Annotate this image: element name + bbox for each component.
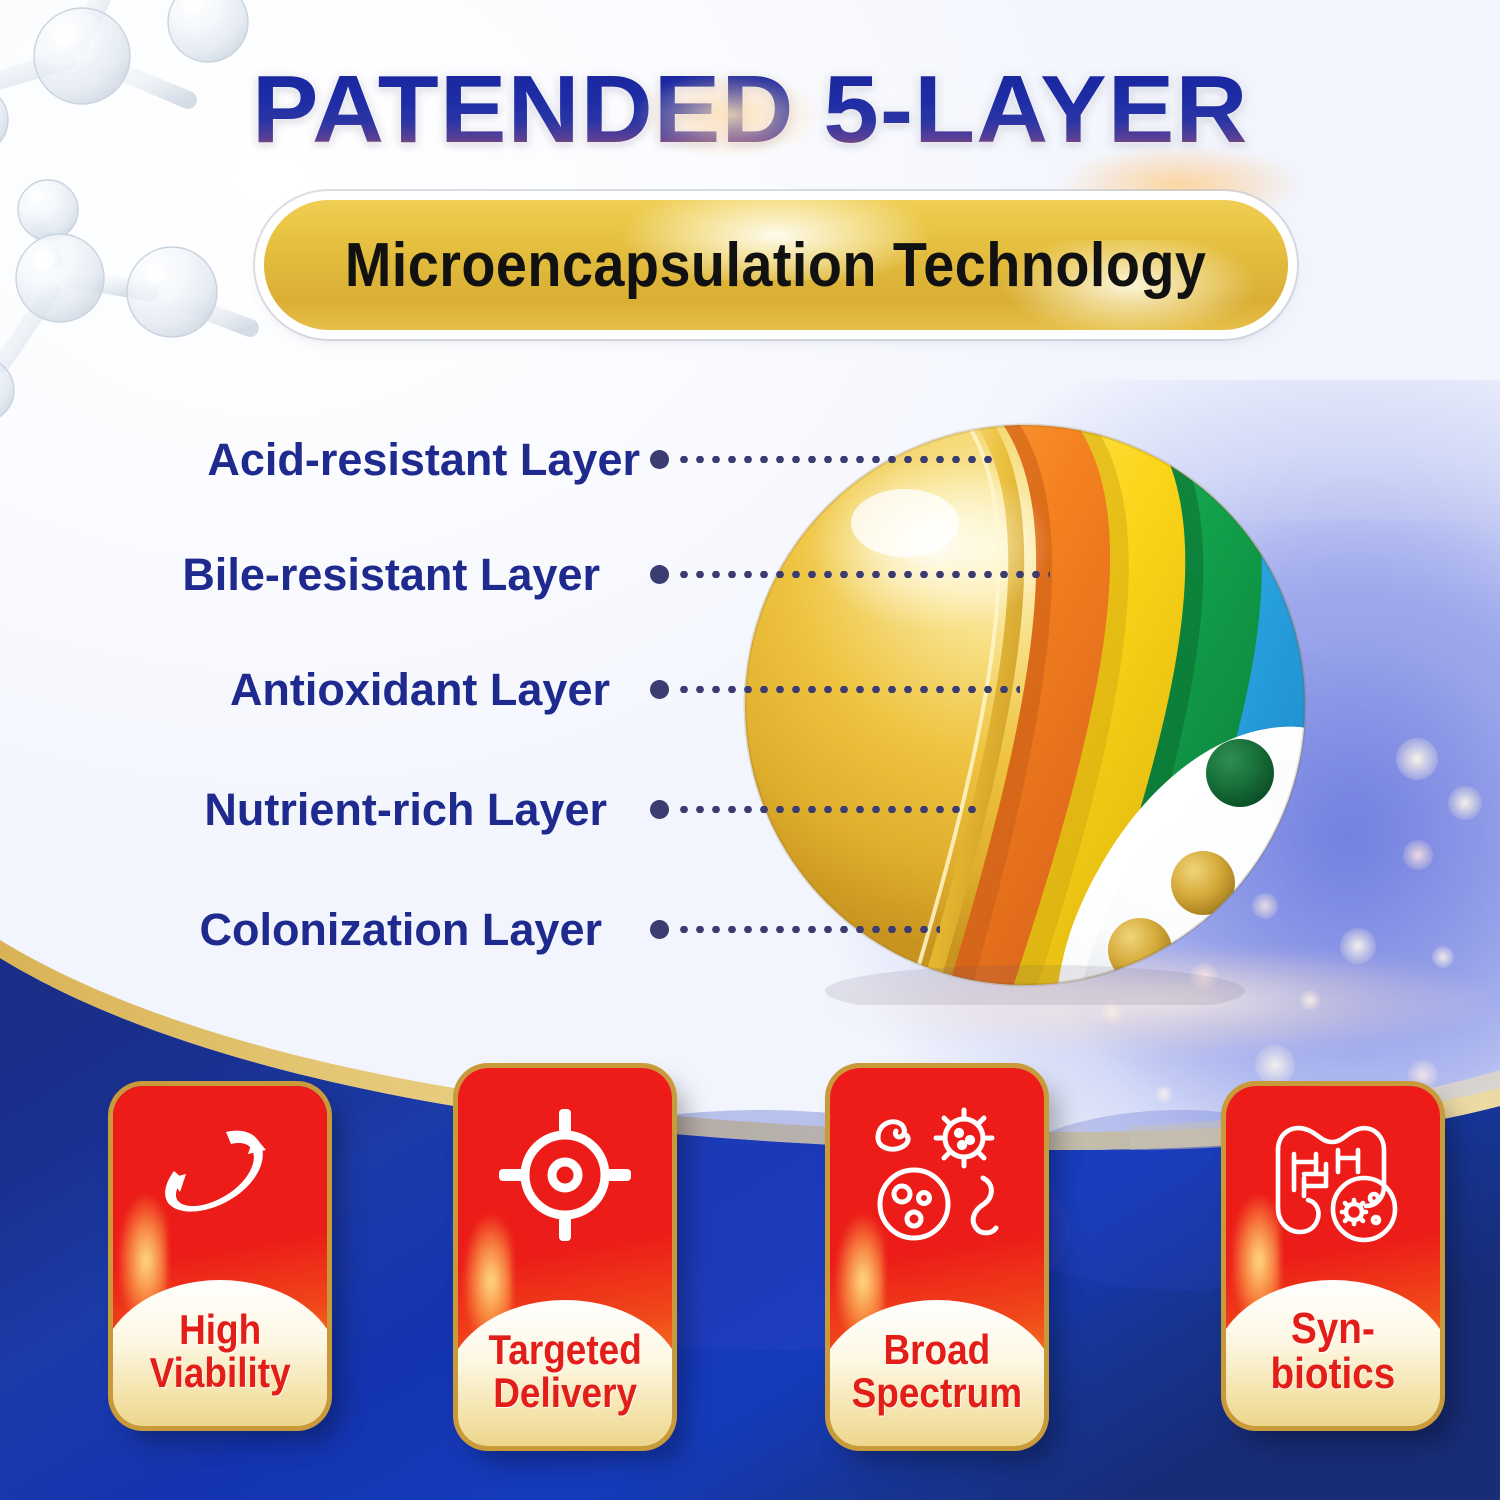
feature-card-targeted-delivery[interactable]: Targeted Delivery — [458, 1068, 672, 1446]
feature-label-targeted-delivery: Targeted Delivery — [488, 1329, 641, 1421]
card-label-panel: Broad Spectrum — [830, 1300, 1044, 1446]
target-crosshair-icon — [498, 1108, 632, 1242]
feature-label-high-viability: High Viability — [149, 1309, 290, 1401]
subtitle-text: Microencapsulation Technology — [345, 230, 1207, 301]
feature-card-synbiotics[interactable]: Syn- biotics — [1226, 1086, 1440, 1426]
infographic-root: PATENDED 5-LAYER Microencapsulation Tech… — [0, 0, 1500, 1500]
microbes-icon — [862, 1106, 1012, 1246]
card-label-panel: Targeted Delivery — [458, 1300, 672, 1446]
intestine-bacteria-icon — [1260, 1116, 1406, 1252]
feature-label-synbiotics: Syn- biotics — [1271, 1307, 1396, 1403]
feature-card-high-viability[interactable]: High Viability — [113, 1086, 327, 1426]
feature-label-broad-spectrum: Broad Spectrum — [852, 1329, 1022, 1421]
card-label-panel: High Viability — [113, 1280, 327, 1426]
card-label-panel: Syn- biotics — [1226, 1280, 1440, 1426]
cycle-arrows-icon — [156, 1122, 284, 1242]
feature-card-broad-spectrum[interactable]: Broad Spectrum — [830, 1068, 1044, 1446]
feature-card-list: High Viability Targeted Delivery — [0, 0, 1500, 1500]
